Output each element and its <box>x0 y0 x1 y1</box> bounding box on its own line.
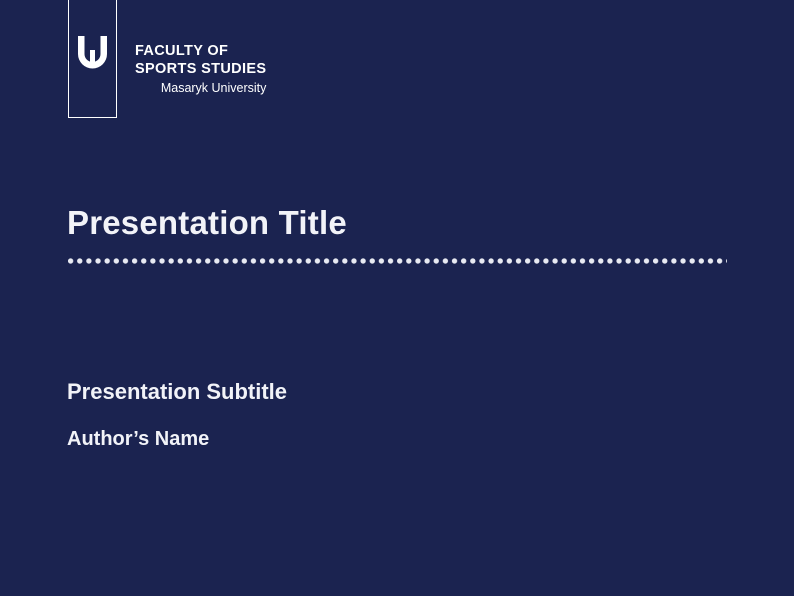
logo-faculty-line-1: FACULTY OF <box>135 43 266 61</box>
logo-faculty-line-2: SPORTS STUDIES <box>135 61 266 79</box>
author-name: Author’s Name <box>67 426 209 452</box>
page-title: Presentation Title <box>67 203 347 243</box>
masaryk-university-mu-monogram-icon <box>76 35 109 69</box>
logo-wordmark: FACULTY OF SPORTS STUDIES Masaryk Univer… <box>135 43 266 118</box>
faculty-logo: FACULTY OF SPORTS STUDIES Masaryk Univer… <box>68 0 266 118</box>
logo-university-line: Masaryk University <box>135 81 266 96</box>
logo-frame <box>68 0 117 118</box>
dotted-divider <box>68 258 727 264</box>
page-subtitle: Presentation Subtitle <box>67 378 287 406</box>
title-slide: FACULTY OF SPORTS STUDIES Masaryk Univer… <box>0 0 794 596</box>
